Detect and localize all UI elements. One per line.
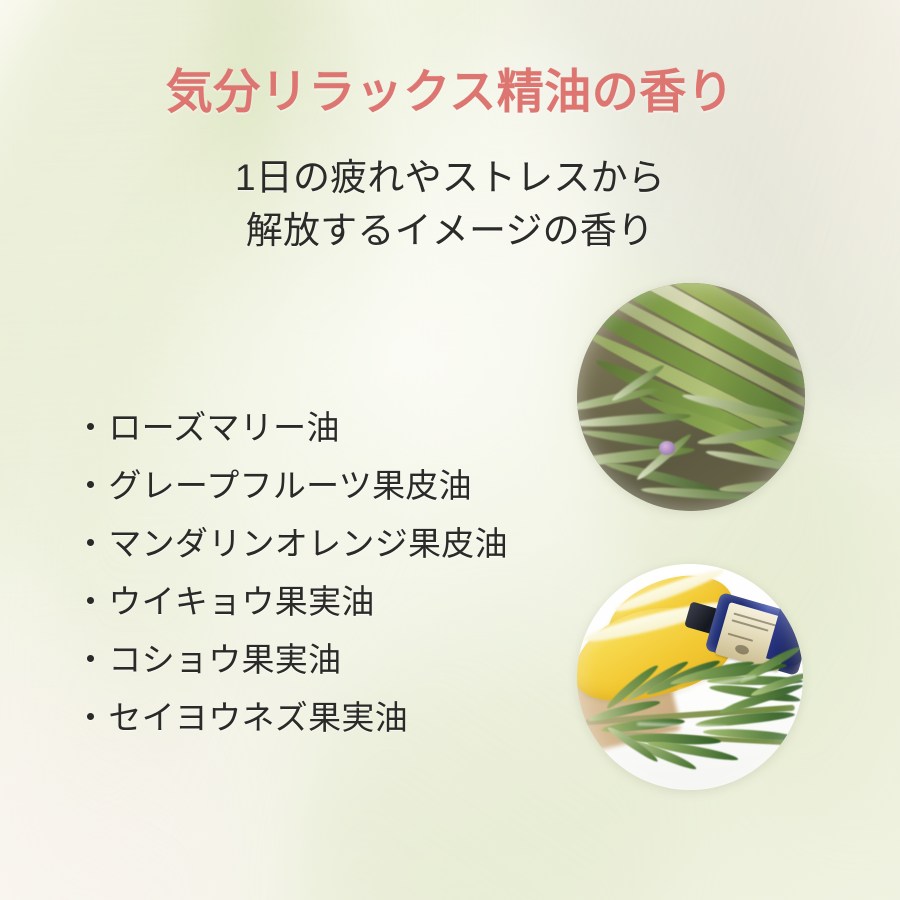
ingredient-list: ・ ローズマリー油 ・ グレープフルーツ果皮油 ・ マンダリンオレンジ果皮油 ・… — [74, 398, 508, 746]
lemon-rosemary-oil-photo — [577, 564, 803, 790]
rosemary-field-photo — [577, 283, 805, 511]
bullet-icon: ・ — [74, 527, 107, 560]
list-item-label: ローズマリー油 — [108, 411, 339, 444]
purple-flower — [659, 441, 675, 455]
bullet-icon: ・ — [74, 469, 107, 502]
bullet-icon: ・ — [74, 643, 107, 676]
list-item: ・ ウイキョウ果実油 — [74, 572, 508, 630]
label-emblem — [734, 643, 750, 656]
bullet-icon: ・ — [74, 585, 107, 618]
list-item: ・ セイヨウネズ果実油 — [74, 688, 508, 746]
page-title: 気分リラックス精油の香り — [0, 66, 900, 119]
bullet-icon: ・ — [74, 701, 107, 734]
list-item-label: グレープフルーツ果皮油 — [108, 469, 472, 502]
bullet-icon: ・ — [74, 411, 107, 444]
list-item: ・ コショウ果実油 — [74, 630, 508, 688]
infographic-canvas: 気分リラックス精油の香り 1日の疲れやストレスから 解放するイメージの香り ・ … — [0, 0, 900, 900]
list-item: ・ ローズマリー油 — [74, 398, 508, 456]
page-subtitle: 1日の疲れやストレスから 解放するイメージの香り — [0, 152, 900, 257]
page-subtitle-line-2: 解放するイメージの香り — [0, 205, 900, 258]
list-item: ・ マンダリンオレンジ果皮油 — [74, 514, 508, 572]
list-item: ・ グレープフルーツ果皮油 — [74, 456, 508, 514]
list-item-label: コショウ果実油 — [108, 643, 341, 676]
label-text-line — [728, 633, 754, 642]
list-item-label: ウイキョウ果実油 — [108, 585, 374, 618]
list-item-label: セイヨウネズ果実油 — [108, 701, 408, 734]
list-item-label: マンダリンオレンジ果皮油 — [108, 527, 508, 560]
page-subtitle-line-1: 1日の疲れやストレスから — [0, 152, 900, 205]
